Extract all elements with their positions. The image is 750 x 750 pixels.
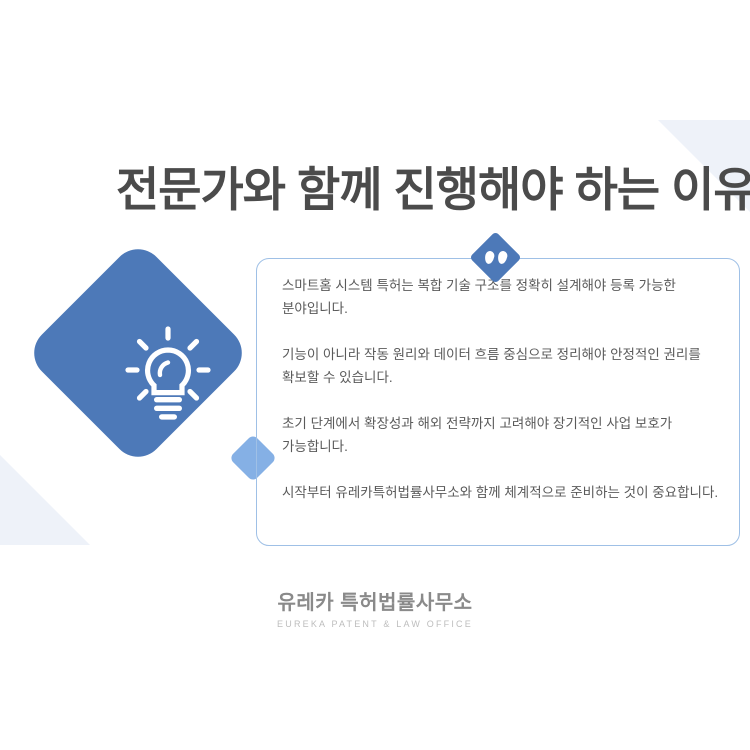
quote-drop-left: [483, 250, 495, 265]
logo-korean-text: 유레카 특허법률사무소: [0, 586, 750, 615]
quotation-mark-icon: [477, 239, 514, 276]
page-title: 전문가와 함께 진행해야 하는 이유: [116, 163, 750, 217]
corner-triangle-bottom-left: [0, 455, 90, 545]
card-paragraph: 시작부터 유레카특허법률사무소와 함께 체계적으로 준비하는 것이 중요합니다.: [282, 481, 724, 504]
lightbulb-badge-diamond: [23, 238, 252, 467]
footer-logo: 유레카 특허법률사무소 EUREKA PATENT & LAW OFFICE: [0, 586, 750, 629]
logo-english-text: EUREKA PATENT & LAW OFFICE: [0, 619, 750, 629]
slide-canvas: 전문가와 함께 진행해야 하는 이유: [0, 0, 750, 750]
card-paragraphs: 스마트홈 시스템 특허는 복합 기술 구조를 정확히 설계해야 등록 가능한 분…: [282, 274, 724, 504]
card-paragraph: 스마트홈 시스템 특허는 복합 기술 구조를 정확히 설계해야 등록 가능한 분…: [282, 274, 724, 320]
quote-drop-right: [496, 250, 508, 265]
card-paragraph: 기능이 아니라 작동 원리와 데이터 흐름 중심으로 정리해야 안정적인 권리를…: [282, 343, 724, 389]
card-paragraph: 초기 단계에서 확장성과 해외 전략까지 고려해야 장기적인 사업 보호가 가능…: [282, 412, 724, 458]
